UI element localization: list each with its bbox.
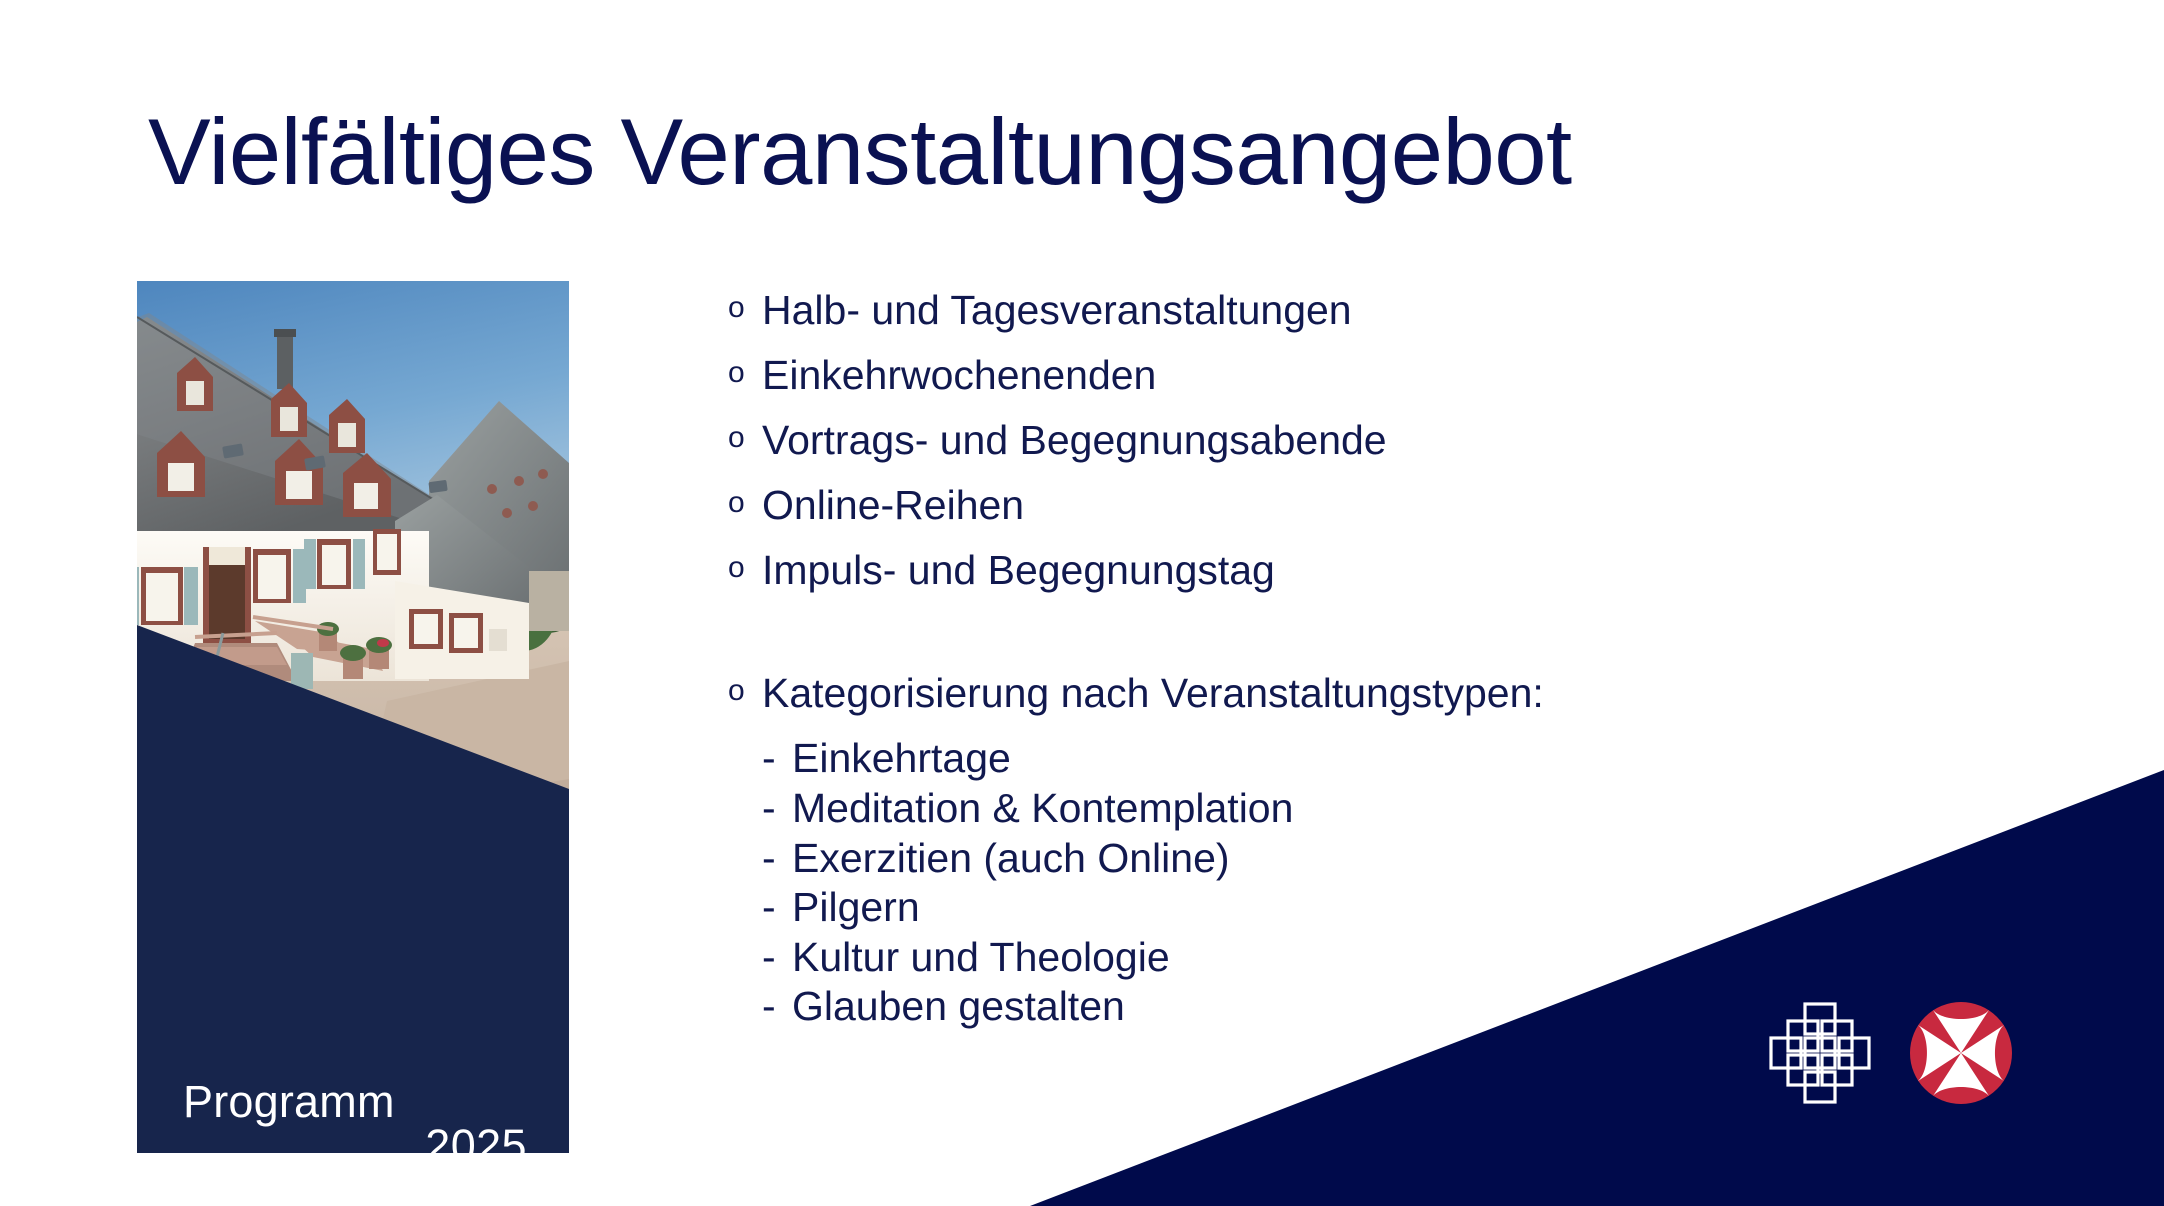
bullet-marker-icon: o <box>728 548 762 589</box>
bullet-marker-icon: o <box>728 288 762 329</box>
dash-marker-icon: - <box>762 835 792 883</box>
event-offer-list: o Halb- und Tagesveranstaltungen o Einke… <box>728 288 1908 1033</box>
brochure-year: 2025 <box>137 1123 527 1153</box>
dash-marker-icon: - <box>762 785 792 833</box>
sub-list-item: - Glauben gestalten <box>762 983 1908 1031</box>
list-item: o Halb- und Tagesveranstaltungen <box>728 288 1908 334</box>
list-item-label: Impuls- und Begegnungstag <box>762 548 1275 594</box>
johanniter-kreuz-quadrate-icon <box>1771 1004 1869 1102</box>
category-heading-label: Kategorisierung nach Veranstaltungstypen… <box>762 671 1544 717</box>
sub-list-item-label: Meditation & Kontemplation <box>792 785 1293 833</box>
sub-list-item-label: Einkehrtage <box>792 735 1011 783</box>
list-item: o Vortrags- und Begegnungsabende <box>728 418 1908 464</box>
list-item: o Impuls- und Begegnungstag <box>728 548 1908 594</box>
sub-list-item-label: Glauben gestalten <box>792 983 1125 1031</box>
dash-marker-icon: - <box>762 735 792 783</box>
list-item-label: Halb- und Tagesveranstaltungen <box>762 288 1352 334</box>
list-group-spacer <box>728 613 1908 671</box>
bullet-marker-icon: o <box>728 483 762 524</box>
sub-list-item: - Exerzitien (auch Online) <box>762 835 1908 883</box>
list-item-label: Vortrags- und Begegnungsabende <box>762 418 1387 464</box>
corner-logo-group <box>1765 1000 2045 1110</box>
list-item: o Einkehrwochenenden <box>728 353 1908 399</box>
sub-list-item: - Kultur und Theologie <box>762 934 1908 982</box>
slide-canvas: Vielfältiges Veranstaltungsangebot <box>0 0 2164 1206</box>
dash-marker-icon: - <box>762 983 792 1031</box>
sub-list-item: - Einkehrtage <box>762 735 1908 783</box>
sub-list-item: - Pilgern <box>762 884 1908 932</box>
bullet-marker-icon: o <box>728 418 762 459</box>
bullet-marker-icon: o <box>728 671 762 712</box>
category-sub-list: - Einkehrtage - Meditation & Kontemplati… <box>762 735 1908 1030</box>
list-item-label: Einkehrwochenenden <box>762 353 1156 399</box>
dash-marker-icon: - <box>762 934 792 982</box>
brochure-program-label: Programm <box>183 1079 395 1124</box>
list-item-label: Online-Reihen <box>762 483 1024 529</box>
bullet-marker-icon: o <box>728 353 762 394</box>
sub-list-item: - Meditation & Kontemplation <box>762 785 1908 833</box>
brochure-cover-card: Programm 2025 Geistliches Zentrum Nieder… <box>137 281 569 1153</box>
list-item-category-heading: o Kategorisierung nach Veranstaltungstyp… <box>728 671 1908 717</box>
sub-list-item-label: Kultur und Theologie <box>792 934 1170 982</box>
dash-marker-icon: - <box>762 884 792 932</box>
sub-list-item-label: Pilgern <box>792 884 920 932</box>
malteserkreuz-rot-icon <box>1910 1002 2012 1104</box>
page-title: Vielfältiges Veranstaltungsangebot <box>148 103 2048 201</box>
sub-list-item-label: Exerzitien (auch Online) <box>792 835 1230 883</box>
brochure-text-block: Programm 2025 Geistliches Zentrum Nieder… <box>137 281 569 1153</box>
list-item: o Online-Reihen <box>728 483 1908 529</box>
